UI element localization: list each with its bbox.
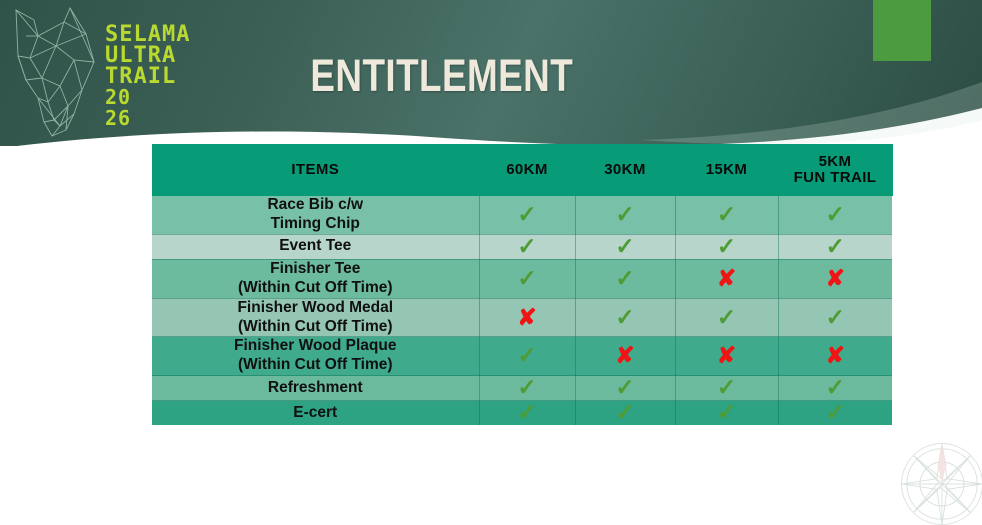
row-label-line2: Timing Chip xyxy=(152,215,479,234)
row-label-line1: Race Bib c/w xyxy=(267,196,363,213)
cell-5km: ✓ xyxy=(778,376,892,401)
cell-30km: ✓ xyxy=(575,234,675,259)
cell-5km: ✘ xyxy=(778,337,892,376)
column-header-items: ITEMS xyxy=(152,144,479,196)
cell-30km: ✘ xyxy=(575,337,675,376)
row-label-line1: E-cert xyxy=(293,404,337,421)
cell-15km: ✓ xyxy=(675,234,778,259)
check-icon: ✓ xyxy=(615,201,634,227)
check-icon: ✓ xyxy=(717,304,736,330)
cell-5km: ✓ xyxy=(778,401,892,426)
cell-15km: ✓ xyxy=(675,401,778,426)
check-icon: ✓ xyxy=(517,399,536,425)
row-label-line1: Event Tee xyxy=(279,237,351,254)
row-label-line1: Refreshment xyxy=(268,379,363,396)
row-label-line2: (Within Cut Off Time) xyxy=(152,318,479,337)
header-banner: SELAMA ULTRA TRAIL 20 26 ENTITLEMENT xyxy=(0,0,982,150)
cell-15km: ✓ xyxy=(675,298,778,337)
cell-5km: ✘ xyxy=(778,259,892,298)
row-label-line1: Finisher Wood Plaque xyxy=(234,337,396,354)
cross-icon: ✘ xyxy=(517,304,536,330)
cell-60km: ✓ xyxy=(479,259,575,298)
cross-icon: ✘ xyxy=(826,265,845,291)
cell-30km: ✓ xyxy=(575,259,675,298)
table-row: E-cert ✓ ✓ ✓ ✓ xyxy=(152,401,892,426)
row-label-finisher-tee: Finisher Tee (Within Cut Off Time) xyxy=(152,259,479,298)
row-label-finisher-wood-plaque: Finisher Wood Plaque (Within Cut Off Tim… xyxy=(152,337,479,376)
check-icon: ✓ xyxy=(615,233,634,259)
check-icon: ✓ xyxy=(717,233,736,259)
cross-icon: ✘ xyxy=(717,265,736,291)
logo-line-1: SELAMA xyxy=(105,24,190,45)
cell-15km: ✘ xyxy=(675,259,778,298)
cell-15km: ✓ xyxy=(675,376,778,401)
check-icon: ✓ xyxy=(717,399,736,425)
row-label-e-cert: E-cert xyxy=(152,401,479,426)
cell-30km: ✓ xyxy=(575,401,675,426)
table-row: Race Bib c/w Timing Chip ✓ ✓ ✓ ✓ xyxy=(152,196,892,234)
cell-60km: ✘ xyxy=(479,298,575,337)
row-label-line1: Finisher Wood Medal xyxy=(237,299,393,316)
cell-30km: ✓ xyxy=(575,196,675,234)
cell-5km: ✓ xyxy=(778,298,892,337)
check-icon: ✓ xyxy=(826,201,845,227)
column-header-15km: 15KM xyxy=(675,144,778,196)
compass-rose-icon xyxy=(898,440,982,525)
column-header-30km: 30KM xyxy=(575,144,675,196)
table-row: Finisher Wood Plaque (Within Cut Off Tim… xyxy=(152,337,892,376)
check-icon: ✓ xyxy=(517,265,536,291)
check-icon: ✓ xyxy=(826,233,845,259)
check-icon: ✓ xyxy=(826,399,845,425)
row-label-line2: (Within Cut Off Time) xyxy=(152,356,479,375)
check-icon: ✓ xyxy=(517,374,536,400)
check-icon: ✓ xyxy=(717,201,736,227)
entitlement-table: ITEMS 60KM 30KM 15KM 5KM FUN TRAIL Race … xyxy=(152,144,893,425)
cell-60km: ✓ xyxy=(479,401,575,426)
page-title: ENTITLEMENT xyxy=(88,50,893,102)
row-label-race-bib: Race Bib c/w Timing Chip xyxy=(152,196,479,234)
column-header-5km: 5KM FUN TRAIL xyxy=(778,144,892,196)
cell-15km: ✓ xyxy=(675,196,778,234)
row-label-line2: (Within Cut Off Time) xyxy=(152,279,479,298)
column-header-5km-line1: 5KM xyxy=(779,154,892,170)
check-icon: ✓ xyxy=(517,233,536,259)
cross-icon: ✘ xyxy=(615,342,634,368)
table-row: Event Tee ✓ ✓ ✓ ✓ xyxy=(152,234,892,259)
row-label-line1: Finisher Tee xyxy=(270,260,360,277)
check-icon: ✓ xyxy=(615,265,634,291)
check-icon: ✓ xyxy=(615,304,634,330)
cell-60km: ✓ xyxy=(479,196,575,234)
cell-30km: ✓ xyxy=(575,376,675,401)
cell-5km: ✓ xyxy=(778,234,892,259)
logo-year-2: 26 xyxy=(105,108,190,128)
table-row: Refreshment ✓ ✓ ✓ ✓ xyxy=(152,376,892,401)
cell-30km: ✓ xyxy=(575,298,675,337)
row-label-event-tee: Event Tee xyxy=(152,234,479,259)
check-icon: ✓ xyxy=(517,201,536,227)
cell-15km: ✘ xyxy=(675,337,778,376)
check-icon: ✓ xyxy=(517,342,536,368)
column-header-60km: 60KM xyxy=(479,144,575,196)
column-header-5km-line2: FUN TRAIL xyxy=(779,170,892,186)
check-icon: ✓ xyxy=(826,304,845,330)
cross-icon: ✘ xyxy=(826,342,845,368)
cell-5km: ✓ xyxy=(778,196,892,234)
table-row: Finisher Tee (Within Cut Off Time) ✓ ✓ ✘… xyxy=(152,259,892,298)
cell-60km: ✓ xyxy=(479,337,575,376)
check-icon: ✓ xyxy=(615,399,634,425)
cell-60km: ✓ xyxy=(479,376,575,401)
table-header-row: ITEMS 60KM 30KM 15KM 5KM FUN TRAIL xyxy=(152,144,892,196)
row-label-finisher-wood-medal: Finisher Wood Medal (Within Cut Off Time… xyxy=(152,298,479,337)
slide-entitlement: SELAMA ULTRA TRAIL 20 26 ENTITLEMENT xyxy=(0,0,982,525)
check-icon: ✓ xyxy=(826,374,845,400)
table-row: Finisher Wood Medal (Within Cut Off Time… xyxy=(152,298,892,337)
check-icon: ✓ xyxy=(615,374,634,400)
cell-60km: ✓ xyxy=(479,234,575,259)
row-label-refreshment: Refreshment xyxy=(152,376,479,401)
check-icon: ✓ xyxy=(717,374,736,400)
cross-icon: ✘ xyxy=(717,342,736,368)
